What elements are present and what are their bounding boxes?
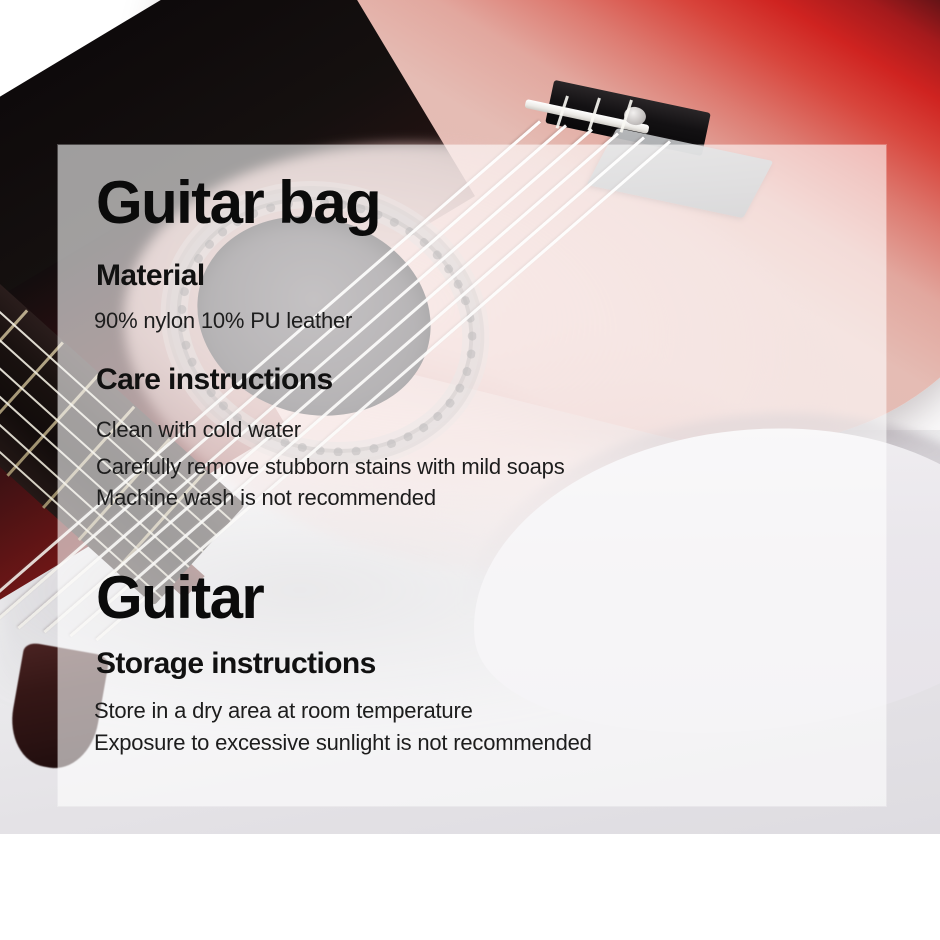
material-line: 90% nylon 10% PU leather bbox=[94, 308, 352, 334]
heading-storage-instructions: Storage instructions bbox=[96, 647, 376, 681]
storage-line: Exposure to excessive sunlight is not re… bbox=[94, 730, 592, 756]
care-line: Machine wash is not recommended bbox=[96, 485, 436, 511]
heading-material: Material bbox=[96, 259, 205, 293]
care-line: Carefully remove stubborn stains with mi… bbox=[96, 454, 565, 480]
section-title-guitar-bag: Guitar bag bbox=[96, 168, 380, 237]
info-panel-content: Guitar bag Material 90% nylon 10% PU lea… bbox=[0, 0, 940, 940]
product-info-image: Guitar bag Material 90% nylon 10% PU lea… bbox=[0, 0, 940, 940]
heading-care-instructions: Care instructions bbox=[96, 363, 333, 397]
care-line: Clean with cold water bbox=[96, 417, 301, 443]
storage-line: Store in a dry area at room temperature bbox=[94, 698, 473, 724]
section-title-guitar: Guitar bbox=[96, 563, 263, 632]
